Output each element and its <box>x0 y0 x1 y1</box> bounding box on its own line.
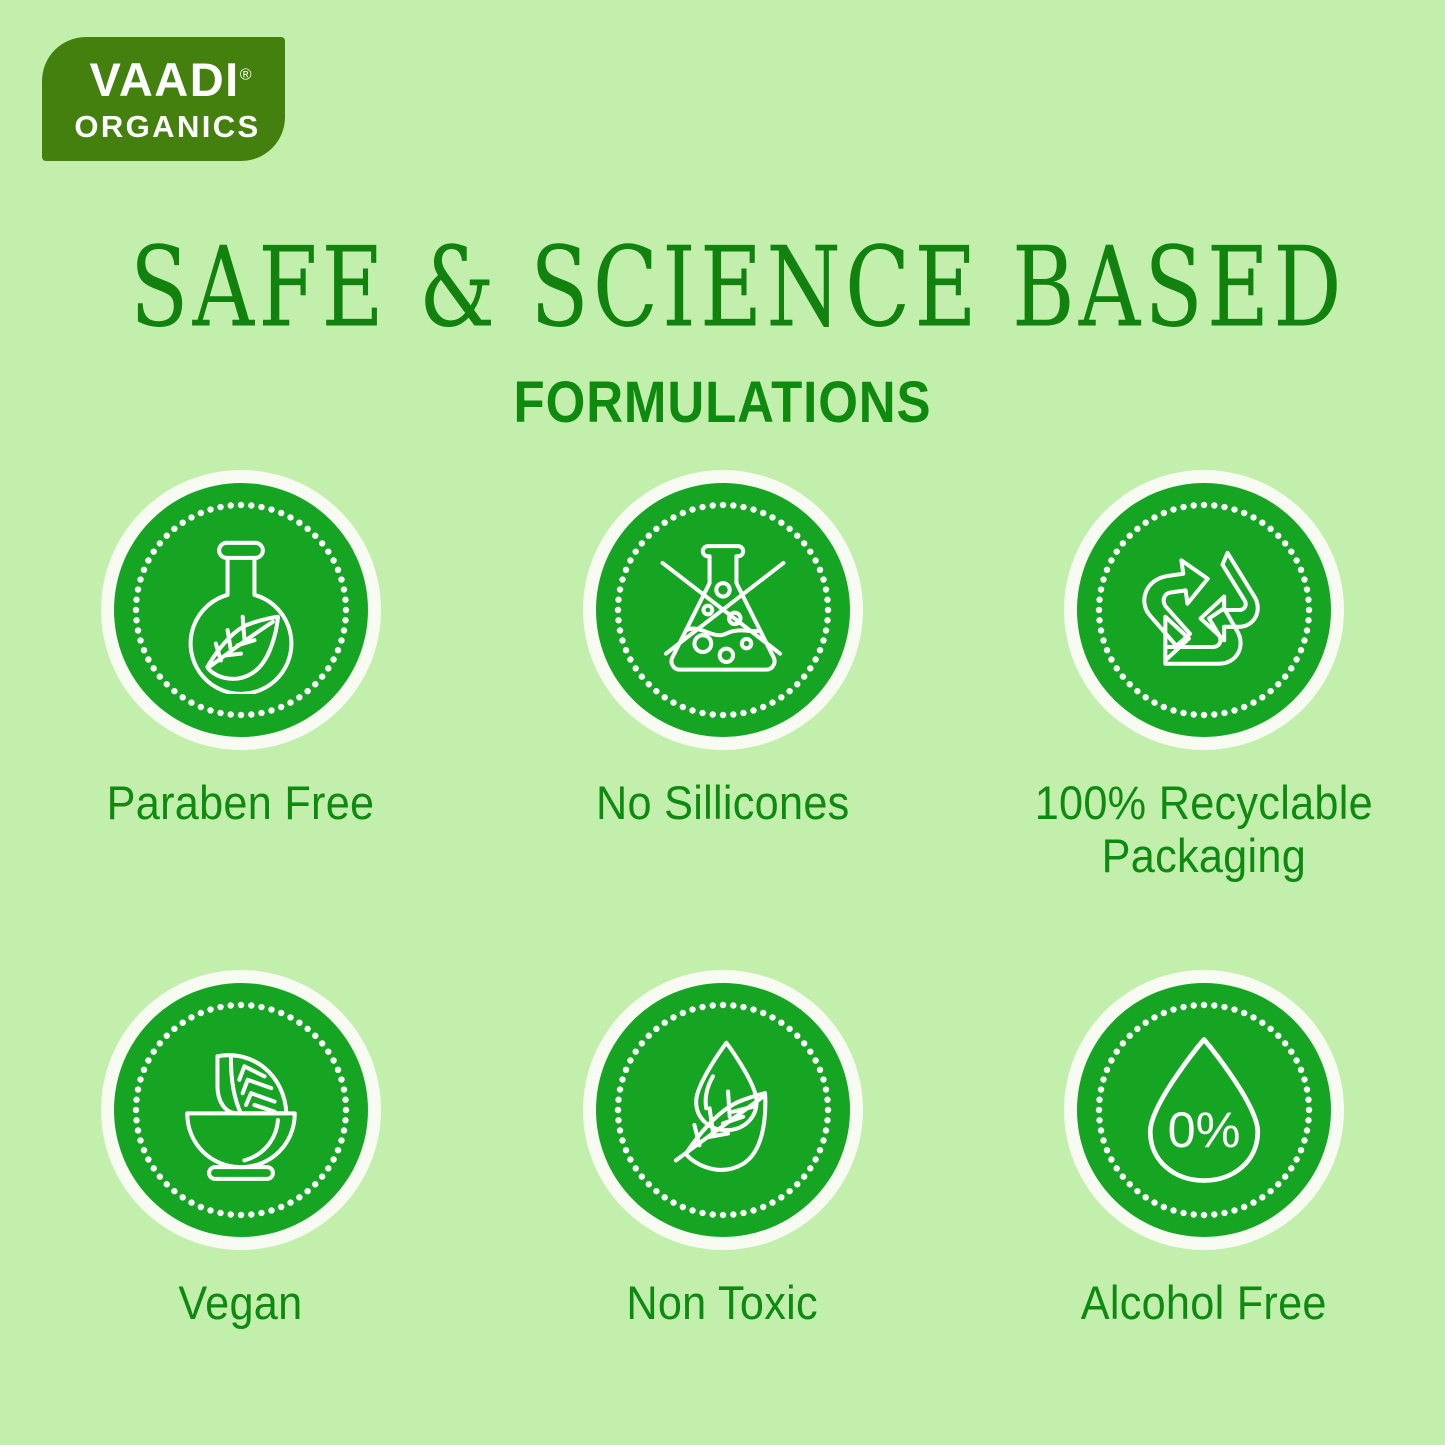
brand-logo: VAADI® ORGANICS <box>42 37 285 161</box>
badge-row-bottom: Vegan <box>0 970 1445 1420</box>
badge-face <box>1077 483 1331 737</box>
badge-label-line-1: 100% Recyclable <box>1035 776 1373 829</box>
badge-ring <box>1064 470 1344 750</box>
badge-row-top: Paraben Free <box>0 470 1445 920</box>
badge-item-paraben-free[interactable]: Paraben Free <box>0 470 482 920</box>
badge-label: Vegan <box>179 1276 303 1329</box>
badge-ring: 0% <box>1064 970 1344 1250</box>
registered-trademark-icon: ® <box>240 66 252 83</box>
page-title: SAFE & SCIENCE BASED <box>130 232 1315 342</box>
badge-item-recyclable-packaging[interactable]: 100% Recyclable Packaging <box>963 470 1445 920</box>
badge-face <box>114 983 368 1237</box>
crossed-out-erlenmeyer-flask-icon <box>639 526 807 694</box>
badge-item-non-toxic[interactable]: Non Toxic <box>482 970 964 1420</box>
badge-label: Non Toxic <box>627 1276 819 1329</box>
droplet-on-leaf-icon <box>639 1026 807 1194</box>
badge-label: Paraben Free <box>107 776 375 829</box>
badge-face <box>596 483 850 737</box>
badge-label-line-2: Packaging <box>1102 829 1306 882</box>
badge-ring <box>101 470 381 750</box>
page-subtitle: FORMULATIONS <box>87 374 1359 432</box>
recycle-icon <box>1120 526 1288 694</box>
brand-name: VAADI <box>89 53 239 106</box>
badge-item-alcohol-free[interactable]: 0% Alcohol Free <box>963 970 1445 1420</box>
badge-item-no-sillicones[interactable]: No Sillicones <box>482 470 964 920</box>
badge-label: Alcohol Free <box>1081 1276 1327 1329</box>
badge-face: 0% <box>1077 983 1331 1237</box>
badge-face <box>596 983 850 1237</box>
zero-percent-text: 0% <box>1168 1101 1241 1158</box>
badge-face <box>114 483 368 737</box>
feature-badge-grid: Paraben Free <box>0 470 1445 1420</box>
badge-ring <box>583 970 863 1250</box>
badge-ring <box>101 970 381 1250</box>
flask-with-leaf-icon <box>157 526 325 694</box>
badge-label: No Sillicones <box>596 776 850 829</box>
droplet-zero-percent-icon: 0% <box>1120 1026 1288 1194</box>
badge-item-vegan[interactable]: Vegan <box>0 970 482 1420</box>
bowl-with-leaf-icon <box>157 1026 325 1194</box>
badge-label: 100% Recyclable Packaging <box>1035 776 1373 882</box>
badge-ring <box>583 470 863 750</box>
brand-wordmark: VAADI® <box>42 56 285 103</box>
brand-tagline: ORGANICS <box>42 111 285 142</box>
